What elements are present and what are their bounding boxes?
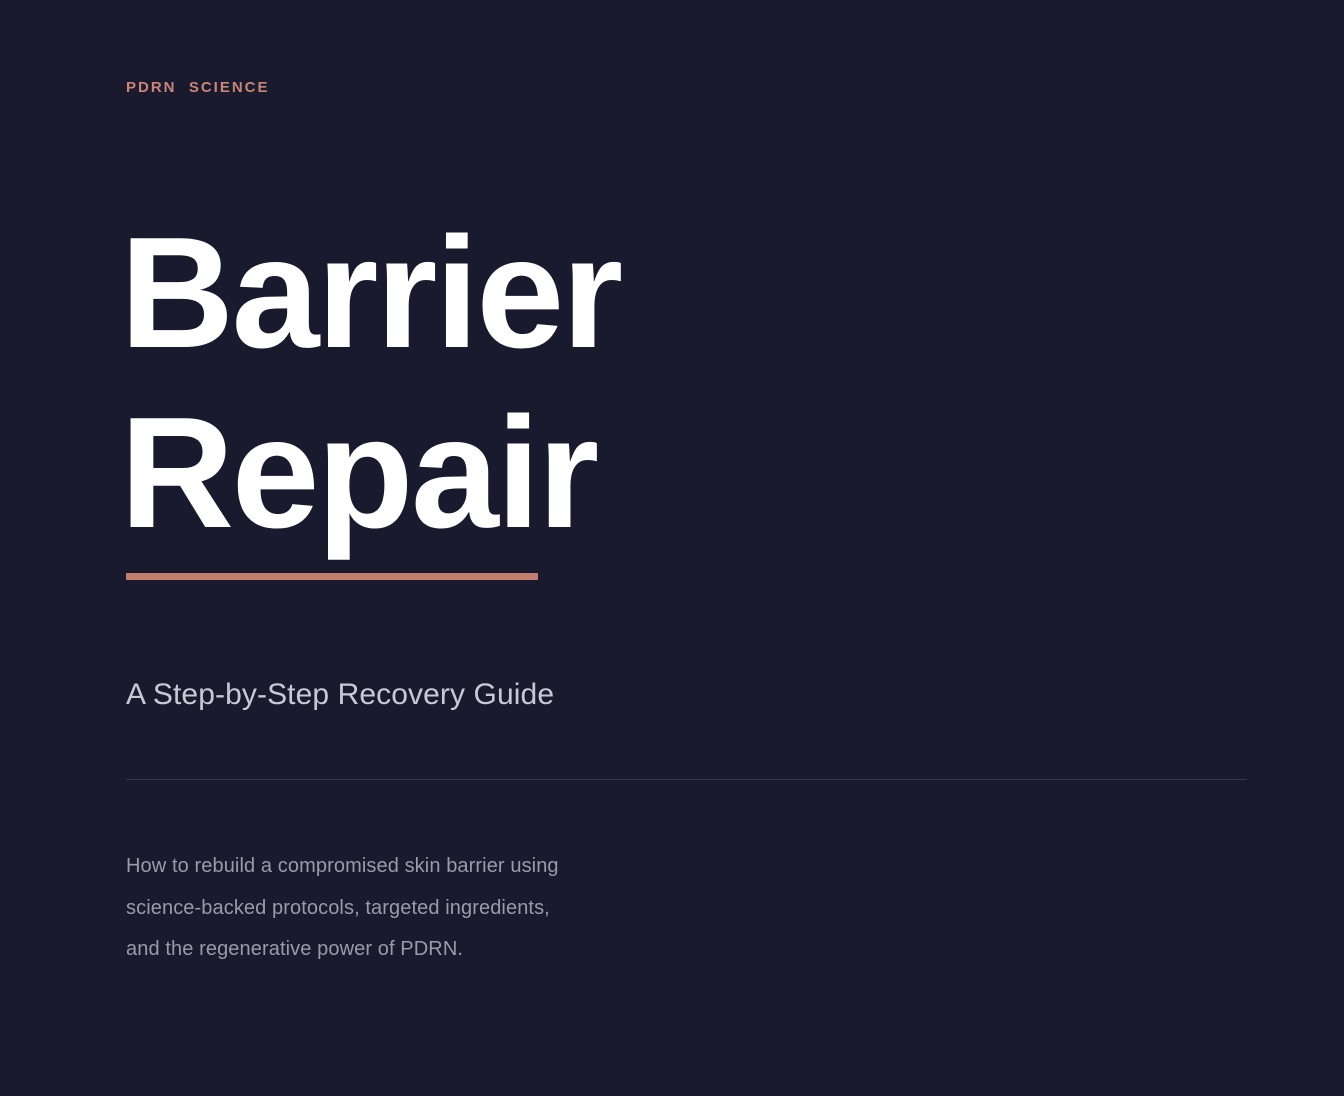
page-description: How to rebuild a compromised skin barrie… bbox=[126, 846, 746, 971]
accent-underline-rule bbox=[126, 573, 538, 580]
page-title: Barrier Repair bbox=[120, 203, 1220, 563]
description-line-2: science-backed protocols, targeted ingre… bbox=[126, 888, 746, 930]
cover-page: PDRN SCIENCE Barrier Repair A Step-by-St… bbox=[0, 0, 1344, 1096]
page-title-line-2: Repair bbox=[120, 383, 1220, 563]
eyebrow-kicker: PDRN SCIENCE bbox=[126, 78, 270, 98]
page-subtitle: A Step-by-Step Recovery Guide bbox=[126, 675, 554, 715]
description-line-3: and the regenerative power of PDRN. bbox=[126, 929, 746, 971]
description-line-1: How to rebuild a compromised skin barrie… bbox=[126, 846, 746, 888]
page-title-line-1: Barrier bbox=[120, 203, 1220, 383]
hairline-divider bbox=[126, 779, 1247, 780]
